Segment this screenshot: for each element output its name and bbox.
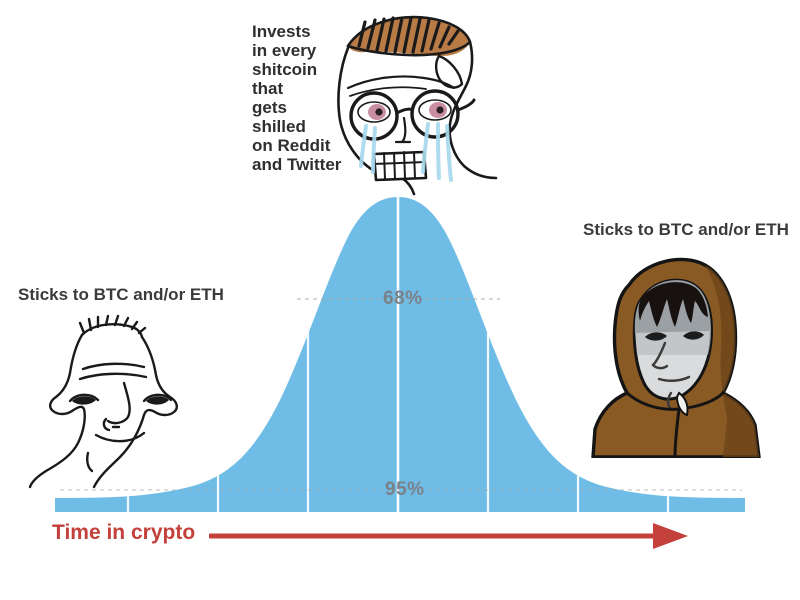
crying-soyjak-figure	[318, 6, 508, 196]
annotation-68-percent: 68%	[383, 288, 423, 310]
right-figure-caption: Sticks to BTC and/or ETH	[583, 220, 789, 240]
brainlet-wojak-figure	[20, 305, 220, 495]
annotation-95-percent: 95%	[385, 479, 425, 501]
x-axis-arrow-icon	[205, 520, 695, 552]
x-axis-label: Time in crypto	[52, 521, 195, 545]
meme-canvas: 68% 95% Time in crypto Sticks to BTC and…	[0, 0, 800, 600]
left-figure-caption: Sticks to BTC and/or ETH	[18, 285, 224, 305]
doomer-hoodie-wojak-figure	[583, 243, 768, 458]
